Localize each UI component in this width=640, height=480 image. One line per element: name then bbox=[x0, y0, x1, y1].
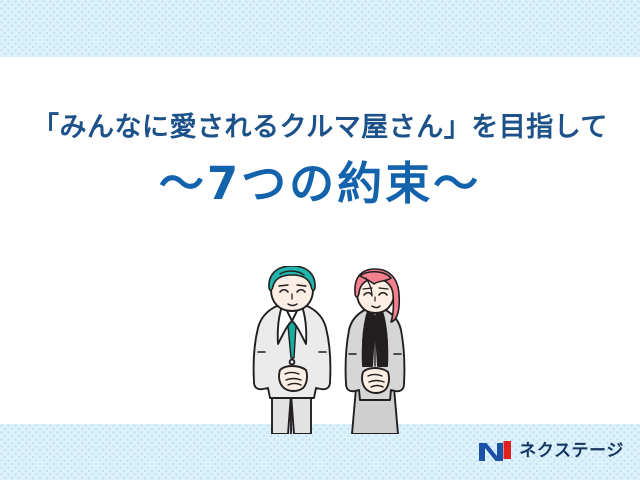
two-bowing-staff-illustration bbox=[236, 266, 426, 434]
male-staff-figure bbox=[254, 266, 331, 434]
nextage-n-logo-icon bbox=[478, 439, 512, 463]
headline-block: 「みんなに愛されるクルマ屋さん」を目指して 〜7つの約束〜 bbox=[0, 112, 640, 212]
slide-canvas: 「みんなに愛されるクルマ屋さん」を目指して 〜7つの約束〜 bbox=[0, 0, 640, 480]
nextage-logo: ネクステージ bbox=[478, 437, 624, 465]
headline-line-1: 「みんなに愛されるクルマ屋さん」を目指して bbox=[0, 112, 640, 144]
female-staff-figure bbox=[346, 269, 405, 434]
top-dot-band bbox=[0, 0, 640, 57]
headline-line-2: 〜7つの約束〜 bbox=[0, 156, 640, 212]
nextage-logo-text: ネクステージ bbox=[519, 443, 624, 460]
